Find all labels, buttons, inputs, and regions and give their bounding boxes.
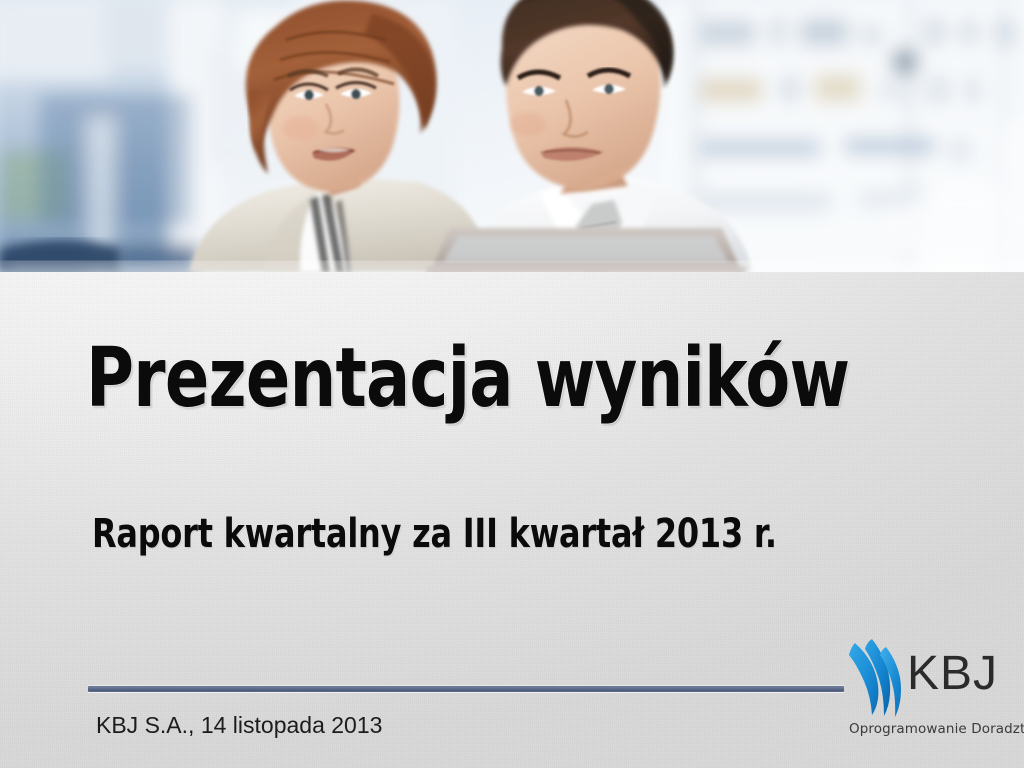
kbj-tagline: Oprogramowanie Doradztwo IT bbox=[849, 721, 1024, 737]
kbj-flame-icon bbox=[845, 637, 907, 719]
presentation-title-slide: Prezentacja wyników Raport kwartalny za … bbox=[0, 0, 1024, 768]
slide-subtitle: Raport kwartalny za III kwartał 2013 r. bbox=[92, 512, 777, 556]
kbj-flame-svg bbox=[845, 637, 907, 719]
slide-title: Prezentacja wyników bbox=[86, 336, 849, 422]
footer-divider-rule bbox=[88, 686, 844, 692]
footer-company-date: KBJ S.A., 14 listopada 2013 bbox=[96, 712, 382, 739]
footer-divider-inner bbox=[88, 687, 844, 691]
header-photo bbox=[0, 0, 1024, 272]
kbj-logo: KBJ Oprogramowanie Doradztwo IT bbox=[845, 637, 1024, 737]
header-photo-illustration bbox=[0, 0, 1024, 272]
kbj-wordmark: KBJ bbox=[907, 649, 998, 699]
